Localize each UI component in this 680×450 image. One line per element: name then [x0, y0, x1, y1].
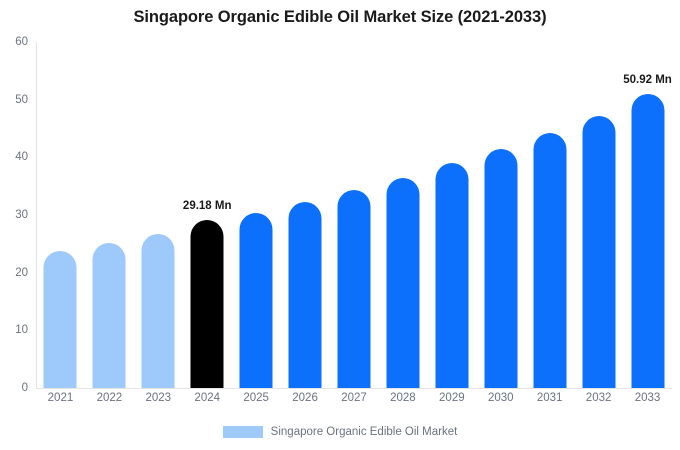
- bar-slot: [525, 42, 574, 388]
- bar-2022[interactable]: [93, 243, 126, 388]
- legend-swatch-icon: [223, 426, 263, 438]
- bar-2033[interactable]: [631, 94, 664, 388]
- bar-slot: [232, 42, 281, 388]
- x-axis-tick-label-2024: 2024: [183, 392, 232, 404]
- chart-title: Singapore Organic Edible Oil Market Size…: [0, 8, 680, 27]
- bar-value-label-2033: 50.92 Mn: [623, 74, 672, 86]
- bar-2024[interactable]: [191, 220, 224, 388]
- bar-2025[interactable]: [240, 213, 273, 388]
- bar-2031[interactable]: [533, 133, 566, 388]
- bar-slot: [378, 42, 427, 388]
- bar-2030[interactable]: [484, 149, 517, 388]
- y-axis-tick-label: 20: [15, 267, 28, 279]
- x-axis-tick-label-2028: 2028: [378, 392, 427, 404]
- x-axis-tick-label-2029: 2029: [427, 392, 476, 404]
- x-axis-tick-label-2025: 2025: [232, 392, 281, 404]
- x-axis-tick-label-2021: 2021: [36, 392, 85, 404]
- bar-slot: [574, 42, 623, 388]
- bar-slot: [85, 42, 134, 388]
- x-axis-tick-label-2032: 2032: [574, 392, 623, 404]
- bar-2028[interactable]: [386, 178, 419, 388]
- bar-slot: [134, 42, 183, 388]
- x-axis-tick-label-2023: 2023: [134, 392, 183, 404]
- bar-2021[interactable]: [44, 251, 77, 388]
- plot-area: 0102030405060 29.18 Mn50.92 Mn: [36, 42, 672, 388]
- bar-2032[interactable]: [582, 116, 615, 388]
- x-axis-tick-label-2031: 2031: [525, 392, 574, 404]
- bar-2023[interactable]: [142, 234, 175, 388]
- chart-container: Singapore Organic Edible Oil Market Size…: [0, 0, 680, 450]
- bar-2029[interactable]: [435, 163, 468, 388]
- bar-value-label-2024: 29.18 Mn: [183, 200, 232, 212]
- x-axis-tick-label-2022: 2022: [85, 392, 134, 404]
- bar-slot: [36, 42, 85, 388]
- y-axis-tick-label: 40: [15, 151, 28, 163]
- x-axis-tick-label-2026: 2026: [281, 392, 330, 404]
- bar-slot: [281, 42, 330, 388]
- x-axis-tick-group: 2021202220232024202520262027202820292030…: [36, 392, 672, 412]
- bar-slot: [330, 42, 379, 388]
- bar-slot: [427, 42, 476, 388]
- y-axis-tick-label: 60: [15, 36, 28, 48]
- bar-slot: 50.92 Mn: [623, 42, 672, 388]
- bar-slot: [476, 42, 525, 388]
- y-axis-tick-label: 10: [15, 324, 28, 336]
- y-axis-tick-label: 30: [15, 209, 28, 221]
- chart-legend: Singapore Organic Edible Oil Market: [0, 426, 680, 438]
- x-axis-tick-label-2027: 2027: [330, 392, 379, 404]
- x-axis-tick-label-2033: 2033: [623, 392, 672, 404]
- legend-label: Singapore Organic Edible Oil Market: [271, 426, 458, 438]
- x-axis-tick-label-2030: 2030: [476, 392, 525, 404]
- y-axis-tick-label: 0: [22, 382, 28, 394]
- bar-2026[interactable]: [289, 202, 322, 388]
- bar-slot: 29.18 Mn: [183, 42, 232, 388]
- x-axis-line: [36, 388, 672, 389]
- y-axis-tick-label: 50: [15, 94, 28, 106]
- bar-group: 29.18 Mn50.92 Mn: [36, 42, 672, 388]
- bar-2027[interactable]: [337, 190, 370, 388]
